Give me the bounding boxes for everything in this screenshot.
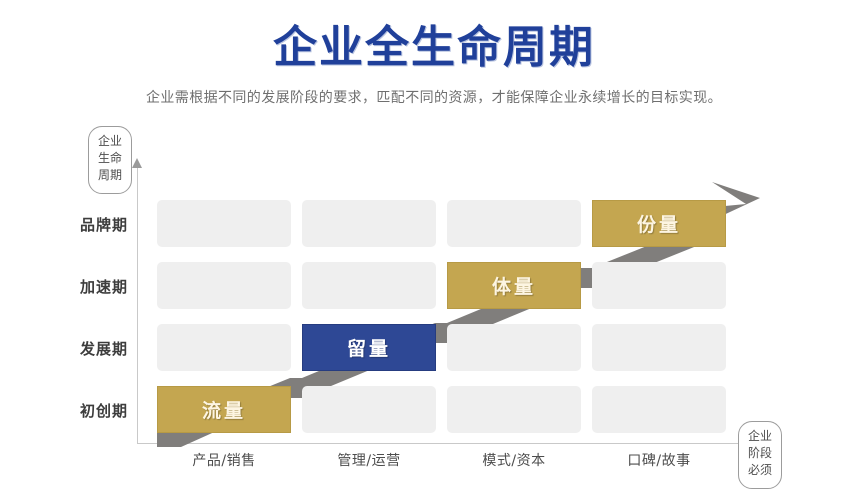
x-axis-label-line2: 阶段 — [739, 445, 781, 462]
grid-cell — [157, 262, 291, 309]
grid-cell — [447, 324, 581, 371]
y-axis-label-capsule: 企业 生命 周期 — [88, 126, 132, 194]
highlight-box[interactable]: 份量 — [592, 200, 726, 247]
grid-cell — [592, 324, 726, 371]
y-axis-label-line2: 生命 — [89, 150, 131, 167]
grid-cell — [302, 386, 436, 433]
grid-cell — [302, 200, 436, 247]
x-axis-label-capsule: 企业 阶段 必须 — [738, 421, 782, 489]
grid-cell — [157, 324, 291, 371]
y-axis-label-line3: 周期 — [89, 167, 131, 184]
y-axis-tick-label: 发展期 — [56, 338, 128, 359]
lifecycle-chart: 企业 生命 周期 企业 阶段 必须 品牌期加速期发展期初创期 份量体量留量流量 … — [0, 0, 868, 500]
y-axis-tick-label: 品牌期 — [56, 214, 128, 235]
y-axis-arrow-icon — [132, 158, 142, 168]
grid-cell — [447, 386, 581, 433]
x-axis-line — [137, 443, 741, 444]
highlight-box[interactable]: 体量 — [447, 262, 581, 309]
x-axis-label-line3: 必须 — [739, 462, 781, 479]
highlight-box[interactable]: 留量 — [302, 324, 436, 371]
y-axis-tick-label: 加速期 — [56, 276, 128, 297]
x-axis-label-line1: 企业 — [739, 428, 781, 445]
y-axis-label-line1: 企业 — [89, 133, 131, 150]
y-axis-line — [137, 166, 138, 444]
x-axis-tick-label: 模式/资本 — [447, 450, 581, 470]
grid-cell — [447, 200, 581, 247]
grid-cell — [592, 262, 726, 309]
grid-cell — [302, 262, 436, 309]
x-axis-tick-label: 产品/销售 — [157, 450, 291, 470]
grid-cell — [592, 386, 726, 433]
y-axis-tick-label: 初创期 — [56, 400, 128, 421]
x-axis-tick-label: 口碑/故事 — [592, 450, 726, 470]
slide-canvas: 企业全生命周期 企业需根据不同的发展阶段的要求，匹配不同的资源，才能保障企业永续… — [0, 0, 868, 500]
x-axis-tick-label: 管理/运营 — [302, 450, 436, 470]
grid-cell — [157, 200, 291, 247]
highlight-box[interactable]: 流量 — [157, 386, 291, 433]
